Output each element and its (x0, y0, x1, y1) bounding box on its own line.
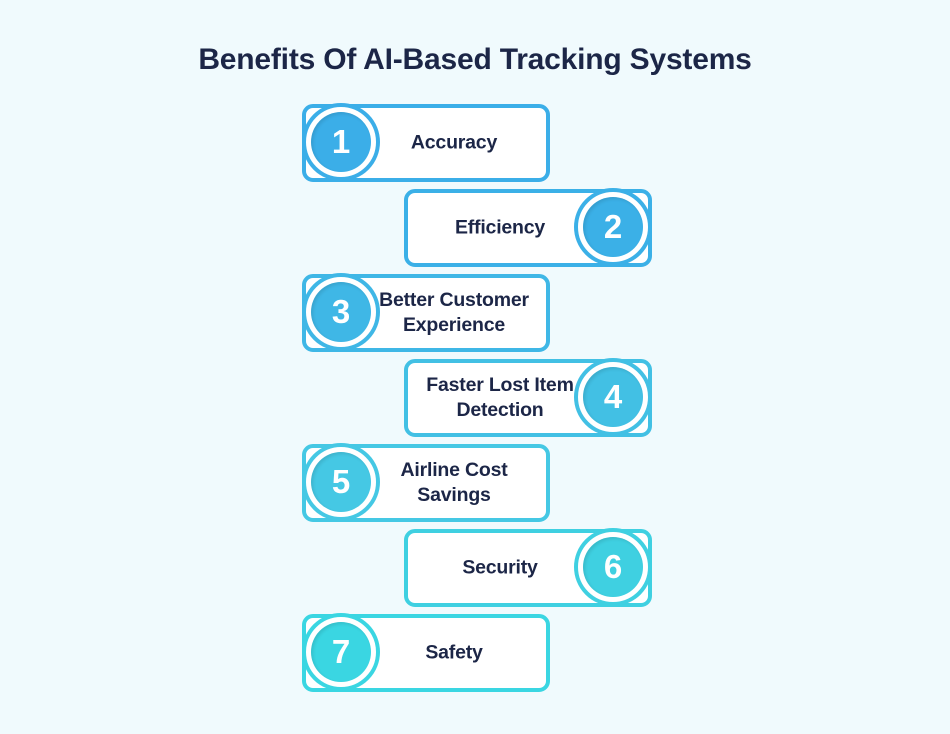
benefit-number-badge[interactable]: 1 (302, 103, 380, 181)
badge-number: 7 (311, 622, 371, 682)
benefit-row[interactable]: Faster Lost Item Detection4 (404, 359, 652, 437)
benefit-number-badge[interactable]: 3 (302, 273, 380, 351)
benefit-row[interactable]: Security6 (404, 529, 652, 607)
benefit-number-badge[interactable]: 6 (574, 528, 652, 606)
badge-number: 5 (311, 452, 371, 512)
badge-number: 6 (583, 537, 643, 597)
benefit-number-badge[interactable]: 5 (302, 443, 380, 521)
badge-number: 1 (311, 112, 371, 172)
infographic-canvas: Benefits Of AI-Based Tracking Systems Ac… (0, 0, 950, 734)
benefit-number-badge[interactable]: 2 (574, 188, 652, 266)
badge-number: 3 (311, 282, 371, 342)
badge-disc: 2 (583, 197, 643, 257)
badge-disc: 1 (311, 112, 371, 172)
benefit-row[interactable]: Safety7 (302, 614, 550, 692)
benefit-row[interactable]: Better Customer Experience3 (302, 274, 550, 352)
badge-number: 2 (583, 197, 643, 257)
badge-disc: 4 (583, 367, 643, 427)
benefit-row[interactable]: Efficiency2 (404, 189, 652, 267)
badge-disc: 6 (583, 537, 643, 597)
badge-disc: 5 (311, 452, 371, 512)
benefit-row[interactable]: Accuracy1 (302, 104, 550, 182)
benefit-list: Accuracy1Efficiency2Better Customer Expe… (0, 0, 950, 734)
benefit-number-badge[interactable]: 4 (574, 358, 652, 436)
badge-disc: 3 (311, 282, 371, 342)
badge-disc: 7 (311, 622, 371, 682)
benefit-number-badge[interactable]: 7 (302, 613, 380, 691)
badge-number: 4 (583, 367, 643, 427)
benefit-row[interactable]: Airline Cost Savings5 (302, 444, 550, 522)
